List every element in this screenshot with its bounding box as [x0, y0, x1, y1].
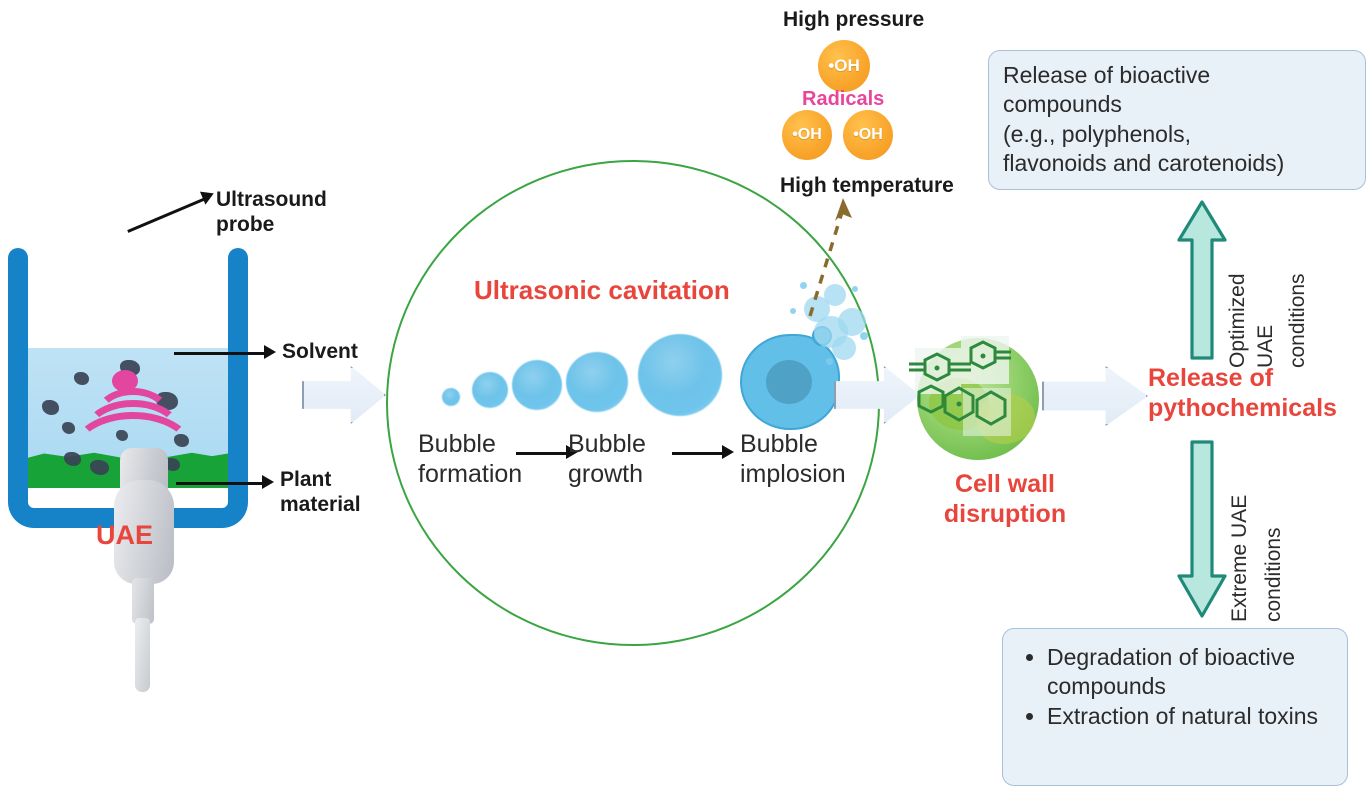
radicals-label: Radicals: [802, 88, 884, 112]
plant-callout-label: Plant material: [280, 468, 361, 518]
optimized-conditions-label: Optimized: [1226, 196, 1249, 368]
degradation-bullet-1: Degradation of bioactive compounds: [1047, 643, 1333, 700]
probe-callout-label: Ultrasound probe: [216, 188, 327, 238]
spray-blob: [832, 336, 856, 360]
uae-beaker-group: [8, 258, 248, 528]
stage-label-formation: Bubble formation: [418, 430, 522, 489]
ultrasound-probe-tip: [135, 618, 150, 692]
bubble-3: [512, 360, 562, 410]
degradation-bullet-list: Degradation of bioactive compounds Extra…: [1003, 629, 1347, 731]
degradation-bullet-2: Extraction of natural toxins: [1047, 702, 1333, 731]
particle: [74, 372, 89, 385]
extreme-conditions-label-2: conditions: [1262, 444, 1285, 622]
particle: [42, 400, 59, 415]
optimized-uae-text: UAE: [1254, 325, 1277, 368]
radical-oh-top: •OH: [818, 40, 870, 92]
stage-label-growth: Bubble growth: [568, 430, 646, 489]
extreme-conditions-arrow-down: [1176, 438, 1228, 620]
radical-oh-right: •OH: [843, 110, 893, 160]
spray-dot: [826, 358, 833, 365]
solvent-callout-label: Solvent: [282, 340, 358, 365]
optimized-conditions-label-text: Optimized: [1226, 273, 1249, 368]
plant-cell-group: [905, 330, 1055, 470]
bubble-1: [442, 388, 460, 406]
bubble-5: [638, 334, 722, 416]
optimized-conditions-arrow-up: [1176, 198, 1228, 362]
extreme-conditions-label: Extreme UAE: [1228, 444, 1251, 622]
flow-arrow-cell-to-release: [1042, 366, 1148, 426]
probe-callout-arrow: [120, 176, 224, 250]
diagram-canvas: UAE Ultrasound probe Solvent Plant mater…: [0, 0, 1371, 812]
extreme-uae-text: Extreme UAE: [1228, 495, 1251, 622]
optimized-conditions-label-2: UAE: [1254, 196, 1277, 368]
particle: [62, 422, 75, 434]
bubble-4: [566, 352, 628, 412]
optimized-conditions-text: conditions: [1286, 273, 1309, 368]
cell-wall-disruption-caption: Cell wall disruption: [930, 470, 1080, 529]
optimized-conditions-label-3: conditions: [1286, 196, 1309, 368]
high-pressure-label: High pressure: [783, 8, 924, 33]
degradation-box: Degradation of bioactive compounds Extra…: [1002, 628, 1348, 786]
extreme-conditions-text: conditions: [1262, 527, 1285, 622]
imploding-bubble-core: [766, 360, 812, 404]
bioactive-release-text: Release of bioactive compounds (e.g., po…: [989, 51, 1365, 189]
uae-caption: UAE: [96, 520, 153, 552]
radical-oh-left: •OH: [782, 110, 832, 160]
bubble-2: [472, 372, 508, 408]
cavitation-title: Ultrasonic cavitation: [474, 275, 730, 306]
stage-label-implosion: Bubble implosion: [740, 430, 846, 489]
high-temperature-arrow: [780, 190, 870, 320]
bioactive-release-box: Release of bioactive compounds (e.g., po…: [988, 50, 1366, 190]
spray-dot: [860, 332, 868, 340]
release-phytochemicals-caption: Release of pythochemicals: [1148, 364, 1337, 423]
flow-arrow-beaker-to-cavitation: [302, 366, 386, 424]
cell-wall-hexagons: [905, 330, 1055, 470]
